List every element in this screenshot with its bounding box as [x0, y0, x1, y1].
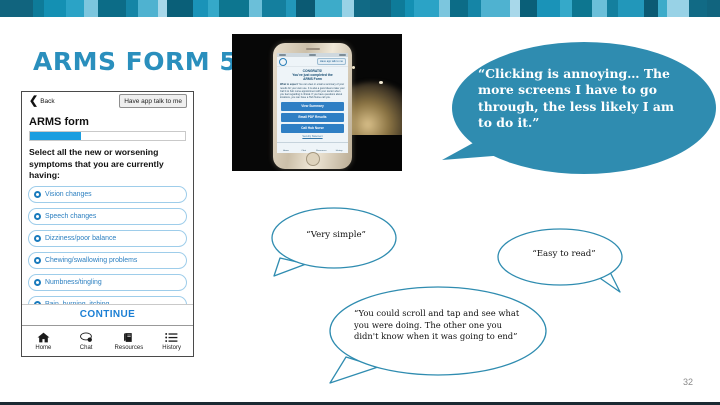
stripe-segment	[66, 0, 84, 17]
home-icon	[37, 331, 50, 344]
list-icon	[165, 331, 178, 344]
nav-label: Home	[277, 143, 295, 153]
nav-item-chat[interactable]: Chat	[65, 326, 108, 356]
stripe-segment	[126, 0, 138, 17]
privacy-link: Security Statement	[277, 135, 348, 138]
have-app-talk-to-me-button[interactable]: Have app talk to me	[119, 94, 187, 108]
symptom-option[interactable]: Pain, burning, itching	[28, 296, 187, 304]
quote-bubble-simple: “Very simple”	[258, 202, 408, 280]
stripe-segment	[249, 0, 262, 17]
stripe-segment	[572, 0, 592, 17]
symptom-list: Vision changes Speech changes Dizziness/…	[28, 186, 187, 304]
continue-button[interactable]: CONTINUE	[22, 304, 193, 325]
symptom-label: Vision changes	[45, 191, 92, 198]
stripe-segment	[158, 0, 167, 17]
form-title: ARMS form	[29, 116, 193, 128]
form-prompt: Select all the new or worsening symptoms…	[29, 147, 186, 182]
stripe-segment	[208, 0, 219, 17]
slide-canvas: ARMS FORM 5 ❮ Back Have app talk to me A…	[0, 0, 720, 405]
symptom-option[interactable]: Vision changes	[28, 186, 187, 203]
screen-nav-row: Have app talk to me	[277, 57, 348, 67]
symptom-option[interactable]: Dizziness/poor balance	[28, 230, 187, 247]
nav-label: Resources	[115, 345, 144, 351]
stripe-segment	[481, 0, 510, 17]
nav-item-history[interactable]: History	[150, 326, 193, 356]
stripe-segment	[537, 0, 560, 17]
call-hub-nurse-button: Call Hub Nurse	[281, 124, 344, 133]
stripe-segment	[520, 0, 537, 17]
stripe-segment	[707, 0, 720, 17]
stripe-segment	[414, 0, 439, 17]
stripe-segment	[644, 0, 658, 17]
stripe-segment	[296, 0, 315, 17]
nav-label: Home	[35, 345, 51, 351]
email-pdf-results-button: Email PDF Results	[281, 113, 344, 122]
book-icon	[123, 331, 135, 344]
handset-screen: Have app talk to me CONGRATS! You've jus…	[277, 53, 348, 153]
screen-body-text: What to expect You can view or email a s…	[280, 83, 345, 99]
screen-action-buttons: View Summary Email PDF Results Call Hub …	[281, 102, 344, 133]
stripe-segment	[658, 0, 667, 17]
phone-photograph: Have app talk to me CONGRATS! You've jus…	[232, 34, 402, 171]
back-label: Back	[40, 98, 54, 105]
view-summary-button: View Summary	[281, 102, 344, 111]
symptom-label: Dizziness/poor balance	[45, 235, 116, 242]
nav-label: History	[162, 345, 181, 351]
symptom-option[interactable]: Speech changes	[28, 208, 187, 225]
radio-icon	[34, 257, 41, 264]
stripe-segment	[167, 0, 193, 17]
symptom-label: Chewing/swallowing problems	[45, 257, 137, 264]
stripe-segment	[560, 0, 572, 17]
symptom-label: Speech changes	[45, 213, 96, 220]
stripe-segment	[138, 0, 158, 17]
stripe-segment	[193, 0, 208, 17]
stripe-segment	[84, 0, 98, 17]
stripe-segment	[354, 0, 370, 17]
stripe-segment	[689, 0, 707, 17]
light-speck	[352, 66, 355, 69]
symptom-option[interactable]: Numbness/tingling	[28, 274, 187, 291]
radio-icon	[34, 213, 41, 220]
radio-icon	[34, 235, 41, 242]
stripe-segment	[405, 0, 414, 17]
symptom-option[interactable]: Chewing/swallowing problems	[28, 252, 187, 269]
stripe-segment	[618, 0, 644, 17]
back-button[interactable]: ❮ Back	[29, 96, 55, 107]
stripe-segment	[439, 0, 450, 17]
dark-corner	[348, 135, 402, 171]
chevron-left-icon: ❮	[29, 96, 38, 107]
progress-bar-fill	[30, 132, 81, 140]
stripe-segment	[262, 0, 286, 17]
stripe-segment	[510, 0, 520, 17]
phone-mockup: ❮ Back Have app talk to me ARMS form Sel…	[21, 91, 194, 357]
nav-item-home[interactable]: Home	[22, 326, 65, 356]
decorative-stripe-band	[0, 0, 720, 17]
quote-bubble-main: “Clicking is annoying… The more screens …	[432, 38, 718, 186]
progress-bar	[29, 131, 186, 141]
radio-icon	[34, 301, 41, 304]
radio-icon	[34, 279, 41, 286]
nav-label: Resources	[313, 143, 331, 153]
quote-text-scroll: “You could scroll and tap and see what y…	[354, 308, 526, 343]
stripe-segment	[315, 0, 342, 17]
symptom-label: Numbness/tingling	[45, 279, 102, 286]
nav-label: History	[330, 143, 348, 153]
stripe-segment	[33, 0, 44, 17]
congrats-heading: CONGRATS! You've just completed the ARMS…	[277, 69, 348, 81]
earpiece	[306, 48, 320, 50]
quote-text-main: “Clicking is annoying… The more screens …	[478, 66, 678, 132]
stripe-segment	[667, 0, 689, 17]
stripe-segment	[219, 0, 249, 17]
stripe-segment	[450, 0, 468, 17]
nav-label: Chat	[80, 345, 93, 351]
radio-icon	[34, 191, 41, 198]
stripe-segment	[44, 0, 66, 17]
page-number: 32	[683, 377, 693, 387]
phone-bottom-nav: Home Chat Resources History	[22, 325, 193, 356]
stripe-segment	[286, 0, 296, 17]
quote-text-easy: “Easy to read”	[514, 249, 614, 259]
light-speck	[379, 81, 383, 84]
stripe-segment	[468, 0, 481, 17]
stripe-segment	[342, 0, 354, 17]
home-button	[306, 152, 320, 166]
quote-bubble-scroll: “You could scroll and tap and see what y…	[316, 283, 556, 387]
stripe-segment	[607, 0, 618, 17]
stripe-segment	[370, 0, 391, 17]
nav-item-resources[interactable]: Resources	[108, 326, 151, 356]
photo-talk-button: Have app talk to me	[317, 58, 346, 65]
app-logo-icon	[279, 58, 287, 66]
page-title: ARMS FORM 5	[33, 47, 237, 76]
stripe-segment	[98, 0, 126, 17]
stripe-segment	[391, 0, 405, 17]
stripe-segment	[0, 0, 33, 17]
phone-app-header: ❮ Back Have app talk to me	[22, 92, 193, 115]
quote-text-simple: “Very simple”	[286, 230, 386, 240]
handset-body: Have app talk to me CONGRATS! You've jus…	[273, 43, 352, 169]
stripe-segment	[592, 0, 607, 17]
chat-bubble-icon	[80, 331, 93, 344]
